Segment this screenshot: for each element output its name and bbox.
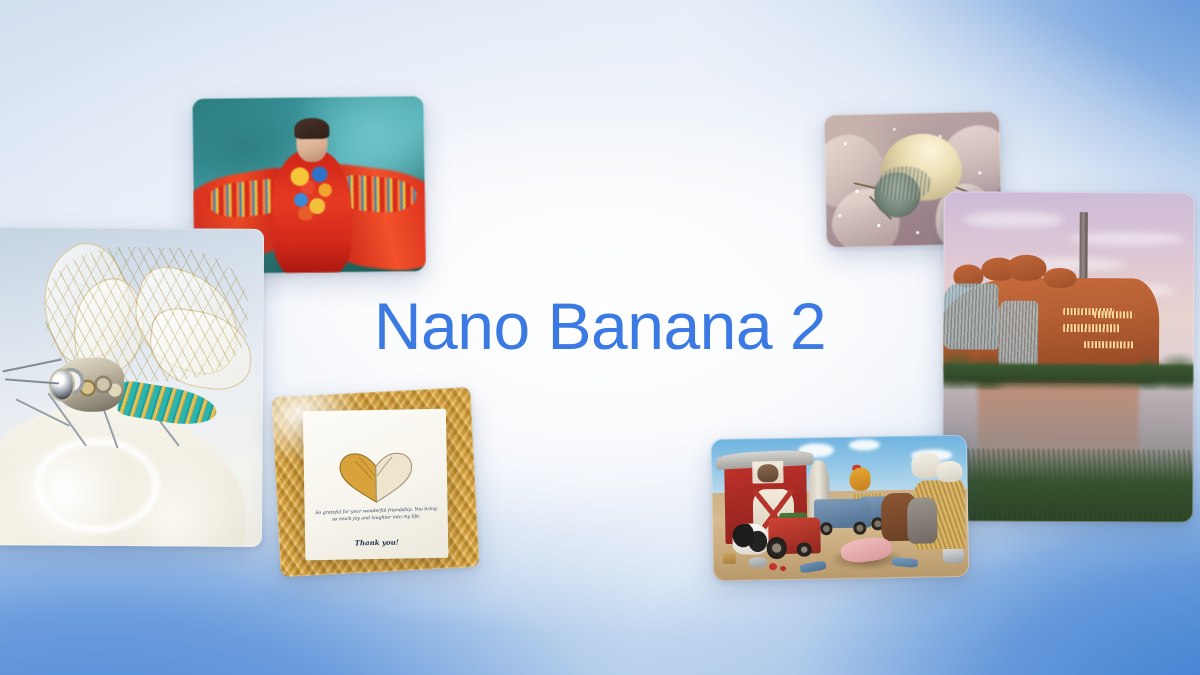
image-card-farm[interactable] — [711, 435, 969, 581]
heart-hands-icon — [326, 448, 424, 506]
image-card-greeting[interactable]: So grateful for your wonderful friendshi… — [271, 387, 479, 577]
page-title: Nano Banana 2 — [0, 292, 1200, 361]
hero-stage: So grateful for your wonderful friendshi… — [0, 0, 1200, 675]
dragonfly-illustration — [0, 227, 264, 547]
greeting-message: So grateful for your wonderful friendshi… — [314, 506, 438, 524]
greeting-card-illustration: So grateful for your wonderful friendshi… — [271, 387, 479, 577]
farm-illustration — [711, 435, 969, 581]
greeting-signoff: Thank you! — [305, 537, 448, 548]
image-card-dragonfly[interactable] — [0, 227, 264, 547]
